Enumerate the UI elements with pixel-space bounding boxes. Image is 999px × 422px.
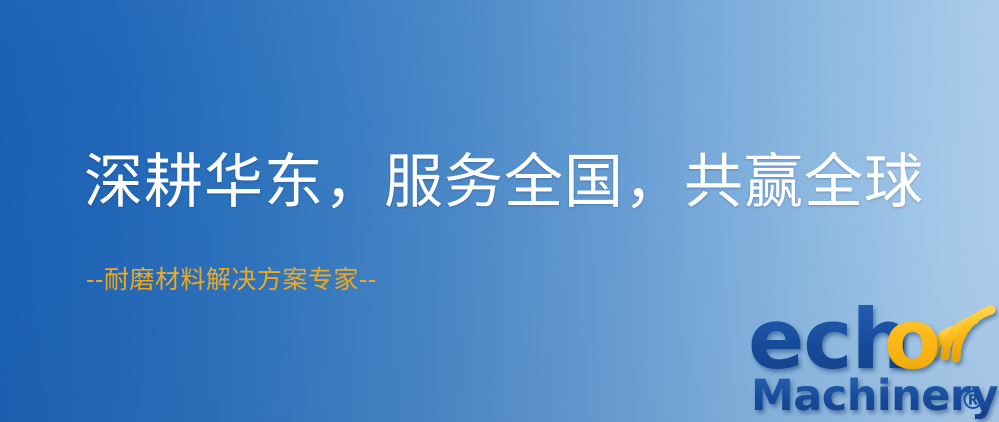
echo-machinery-logo[interactable]: ech o Machinery ®	[748, 296, 996, 418]
banner-subtitle: --耐磨材料解决方案专家--	[86, 266, 377, 294]
promo-banner: 深耕华东，服务全国，共赢全球 --耐磨材料解决方案专家--	[0, 0, 999, 422]
registered-trademark-icon: ®	[960, 386, 986, 416]
banner-headline: 深耕华东，服务全国，共赢全球	[84, 152, 924, 212]
echo-wave-arcs	[934, 310, 991, 358]
